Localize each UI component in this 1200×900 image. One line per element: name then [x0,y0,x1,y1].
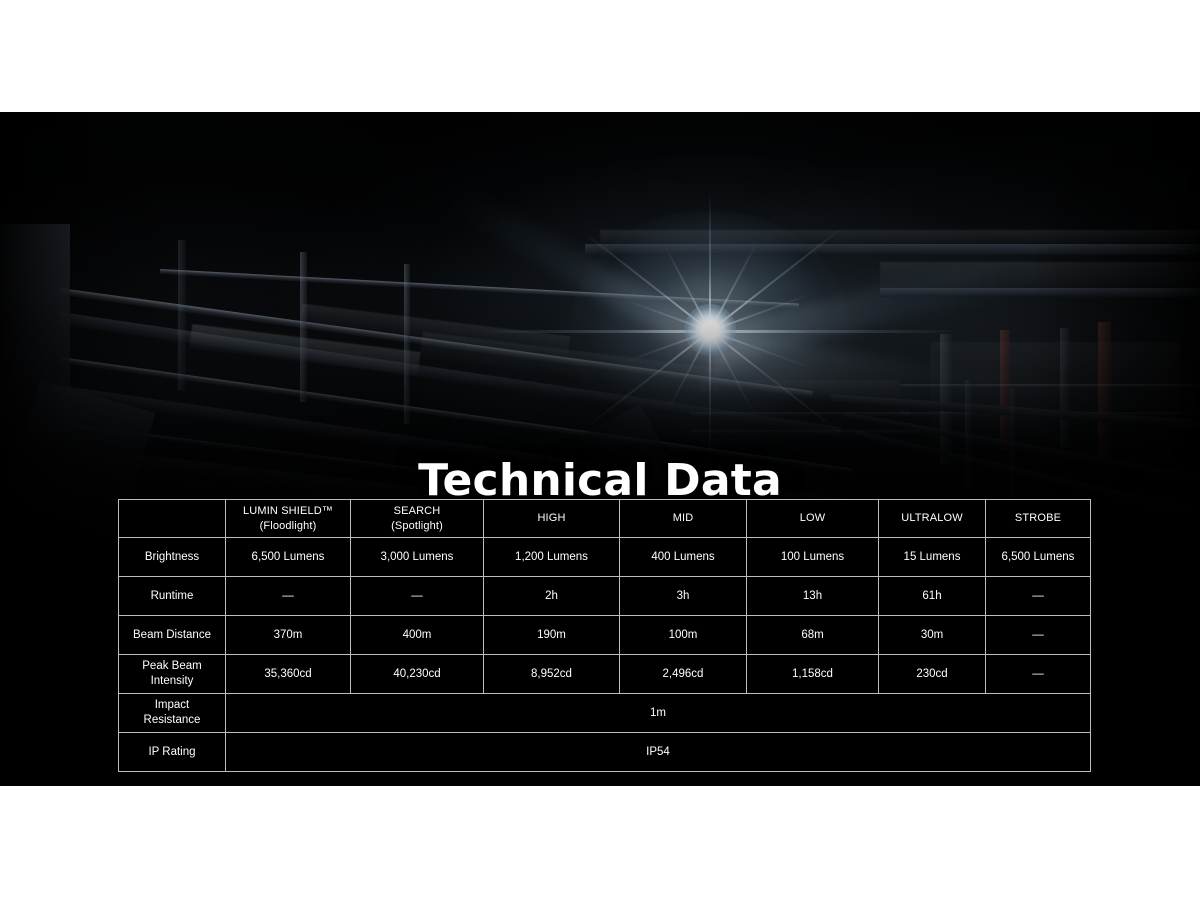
column-header-label: HIGH [486,511,617,525]
column-header-label: ULTRALOW [881,511,983,525]
table-row: IP Rating IP54 [119,733,1091,772]
cell-peak-beam-ultralow: 230cd [879,655,986,694]
cell-runtime-mid: 3h [620,577,747,616]
column-header-lumin-shield: LUMIN SHIELD™ (Floodlight) [226,500,351,538]
cell-runtime-lumin-shield: — [226,577,351,616]
cell-peak-beam-high: 8,952cd [484,655,620,694]
cell-runtime-ultralow: 61h [879,577,986,616]
table-body: Brightness 6,500 Lumens 3,000 Lumens 1,2… [119,538,1091,772]
cell-brightness-mid: 400 Lumens [620,538,747,577]
table-row: Brightness 6,500 Lumens 3,000 Lumens 1,2… [119,538,1091,577]
table-row: Beam Distance 370m 400m 190m 100m 68m 30… [119,616,1091,655]
cell-brightness-low: 100 Lumens [747,538,879,577]
column-header-high: HIGH [484,500,620,538]
row-label-line2: Intensity [121,674,223,689]
page-title: Technical Data [0,459,1200,503]
technical-data-table: LUMIN SHIELD™ (Floodlight) SEARCH (Spotl… [118,499,1091,772]
column-header-label: MID [622,511,744,525]
cell-runtime-strobe: — [986,577,1091,616]
technical-data-table-wrapper: LUMIN SHIELD™ (Floodlight) SEARCH (Spotl… [118,499,1090,772]
cell-brightness-high: 1,200 Lumens [484,538,620,577]
column-header-label: STROBE [988,511,1088,525]
row-label-line1: Impact [121,698,223,713]
cell-runtime-search: — [351,577,484,616]
table-header-row: LUMIN SHIELD™ (Floodlight) SEARCH (Spotl… [119,500,1091,538]
cell-brightness-ultralow: 15 Lumens [879,538,986,577]
cell-beam-distance-low: 68m [747,616,879,655]
column-header-strobe: STROBE [986,500,1091,538]
row-label-impact-resistance: Impact Resistance [119,694,226,733]
page-root: Technical Data LUMIN SHIELD™ (Floodlight… [0,0,1200,900]
cell-brightness-lumin-shield: 6,500 Lumens [226,538,351,577]
cell-beam-distance-lumin-shield: 370m [226,616,351,655]
cell-peak-beam-strobe: — [986,655,1091,694]
row-label-line1: Peak Beam [121,659,223,674]
row-label-brightness: Brightness [119,538,226,577]
table-corner-cell [119,500,226,538]
cell-beam-distance-high: 190m [484,616,620,655]
column-header-label: SEARCH [353,504,481,518]
column-header-label: LOW [749,511,876,525]
hero-panel: Technical Data LUMIN SHIELD™ (Floodlight… [0,112,1200,786]
row-label-peak-beam-intensity: Peak Beam Intensity [119,655,226,694]
column-header-sublabel: (Floodlight) [228,519,348,533]
cell-peak-beam-mid: 2,496cd [620,655,747,694]
cell-beam-distance-ultralow: 30m [879,616,986,655]
cell-impact-resistance-value: 1m [226,694,1091,733]
row-label-beam-distance: Beam Distance [119,616,226,655]
column-header-search: SEARCH (Spotlight) [351,500,484,538]
cell-peak-beam-low: 1,158cd [747,655,879,694]
column-header-sublabel: (Spotlight) [353,519,481,533]
column-header-ultralow: ULTRALOW [879,500,986,538]
cell-brightness-search: 3,000 Lumens [351,538,484,577]
column-header-low: LOW [747,500,879,538]
cell-peak-beam-lumin-shield: 35,360cd [226,655,351,694]
cell-ip-rating-value: IP54 [226,733,1091,772]
row-label-ip-rating: IP Rating [119,733,226,772]
row-label-runtime: Runtime [119,577,226,616]
table-row: Impact Resistance 1m [119,694,1091,733]
column-header-label: LUMIN SHIELD™ [228,504,348,518]
cell-runtime-high: 2h [484,577,620,616]
cell-beam-distance-search: 400m [351,616,484,655]
table-row: Runtime — — 2h 3h 13h 61h — [119,577,1091,616]
cell-beam-distance-mid: 100m [620,616,747,655]
cell-beam-distance-strobe: — [986,616,1091,655]
row-label-line2: Resistance [121,713,223,728]
column-header-mid: MID [620,500,747,538]
cell-peak-beam-search: 40,230cd [351,655,484,694]
table-row: Peak Beam Intensity 35,360cd 40,230cd 8,… [119,655,1091,694]
table-header: LUMIN SHIELD™ (Floodlight) SEARCH (Spotl… [119,500,1091,538]
cell-runtime-low: 13h [747,577,879,616]
cell-brightness-strobe: 6,500 Lumens [986,538,1091,577]
